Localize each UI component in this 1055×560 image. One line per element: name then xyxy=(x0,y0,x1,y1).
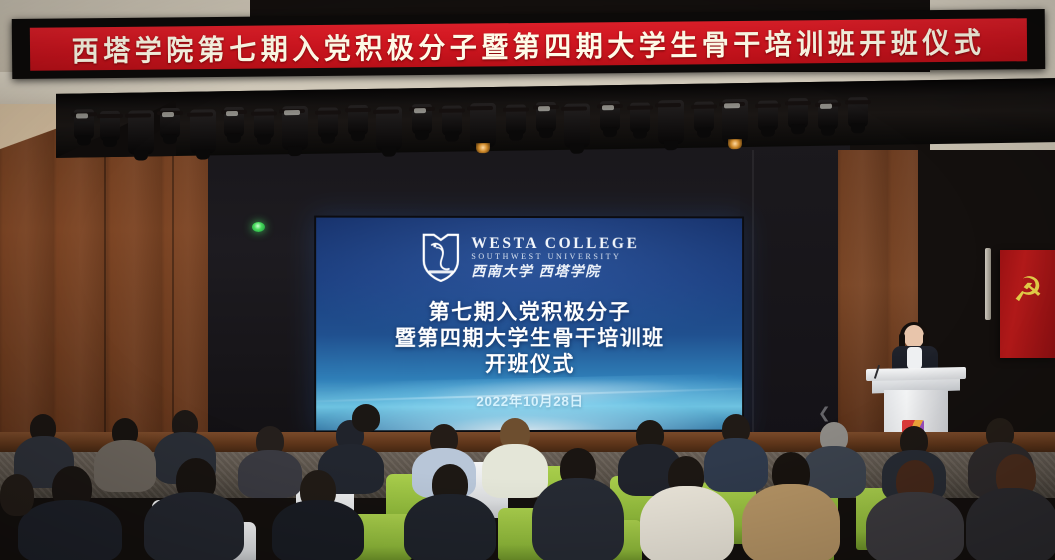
attendee xyxy=(532,478,624,560)
shield-crest-icon xyxy=(420,232,462,282)
attendee xyxy=(404,494,496,560)
attendee-head xyxy=(352,404,380,432)
attendee xyxy=(18,500,122,560)
backdrop-seam xyxy=(752,150,754,440)
attendee-head xyxy=(0,474,34,516)
stage-light xyxy=(128,110,154,154)
stage-light xyxy=(348,105,368,135)
flag-pole xyxy=(985,248,991,320)
stage-light xyxy=(100,111,120,141)
speaker-shirt xyxy=(907,347,922,369)
attendee xyxy=(238,450,302,498)
stage-light xyxy=(412,104,432,134)
attendee xyxy=(640,486,734,560)
audience xyxy=(0,404,1055,560)
speaker-head xyxy=(904,325,924,348)
stage-light xyxy=(722,99,748,143)
attendee xyxy=(704,438,768,492)
stage-light xyxy=(506,104,526,134)
stage-light xyxy=(818,100,838,130)
stage-light xyxy=(564,103,590,147)
stage-light xyxy=(758,101,778,131)
stage-light xyxy=(630,103,650,133)
stage-light xyxy=(658,100,684,144)
attendee xyxy=(866,492,964,560)
stage-light xyxy=(190,109,216,153)
banner-text: 西塔学院第七期入党积极分子暨第四期大学生骨干培训班开班仪式 xyxy=(72,19,986,69)
stage-light xyxy=(600,101,620,131)
logo-english-name: WESTA COLLEGE xyxy=(471,236,639,252)
slide-title-line-2: 暨第四期大学生骨干培训班 xyxy=(316,326,742,352)
projection-screen-bezel: WESTA COLLEGE SOUTHWEST UNIVERSITY 西南大学 … xyxy=(314,216,744,433)
stage-light xyxy=(848,97,868,127)
podium-top xyxy=(866,367,966,381)
event-banner: 西塔学院第七期入党积极分子暨第四期大学生骨干培训班开班仪式 xyxy=(30,18,1027,71)
event-photo: ❮ 西塔学院第七期入党积极分子暨第四期大学生骨干培训班开班 xyxy=(0,0,1055,560)
stage-light xyxy=(788,98,808,128)
stage-light xyxy=(160,108,180,138)
attendee xyxy=(272,500,364,560)
hammer-and-sickle-icon: ☭ xyxy=(1010,270,1046,310)
attendee xyxy=(94,440,156,492)
attendee xyxy=(966,488,1055,560)
college-logo-lockup: WESTA COLLEGE SOUTHWEST UNIVERSITY 西南大学 … xyxy=(316,232,742,283)
attendee xyxy=(482,444,548,498)
stage-light xyxy=(254,108,274,138)
stage-light xyxy=(442,105,462,135)
projection-screen: WESTA COLLEGE SOUTHWEST UNIVERSITY 西南大学 … xyxy=(316,218,742,431)
slide-title-line-1: 第七期入党积极分子 xyxy=(316,300,742,326)
logo-chinese-name: 西南大学 西塔学院 xyxy=(471,264,639,278)
stage-light xyxy=(536,102,556,132)
stage-light xyxy=(694,102,714,132)
green-status-light xyxy=(252,222,265,232)
logo-english-sub: SOUTHWEST UNIVERSITY xyxy=(471,253,639,261)
stage-light xyxy=(74,109,94,139)
party-flag: ☭ xyxy=(1000,250,1055,358)
stage-light xyxy=(318,107,338,137)
banner-frame: 西塔学院第七期入党积极分子暨第四期大学生骨干培训班开班仪式 xyxy=(12,9,1046,79)
stage-light xyxy=(224,107,244,137)
stage-light xyxy=(470,103,496,147)
college-logo-text: WESTA COLLEGE SOUTHWEST UNIVERSITY 西南大学 … xyxy=(471,236,639,279)
stage-light xyxy=(376,106,402,150)
stage-light xyxy=(282,106,308,150)
attendee xyxy=(144,492,244,560)
attendee xyxy=(742,484,840,560)
